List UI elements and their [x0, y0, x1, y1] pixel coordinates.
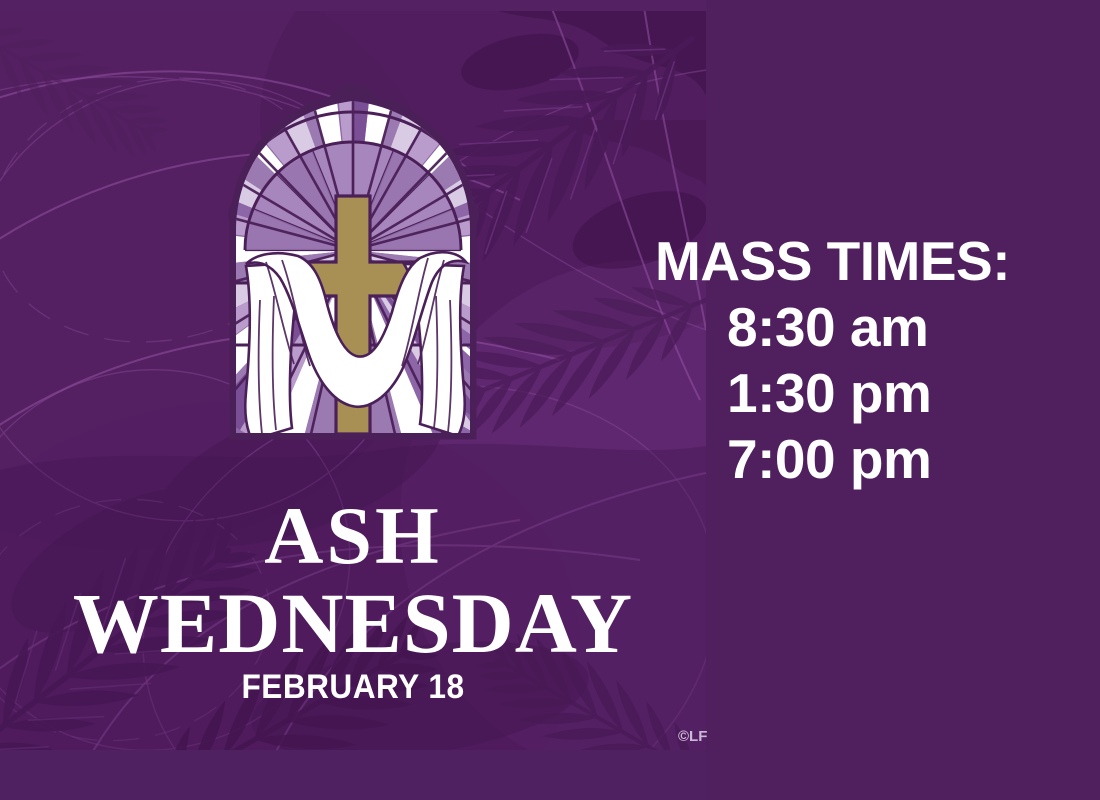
- copyright-mark: ©LF: [678, 728, 707, 745]
- poster-date: FEBRUARY 18: [25, 668, 682, 706]
- poster-title-line-2: WEDNESDAY: [0, 580, 706, 666]
- mass-time-2: 1:30 pm: [655, 360, 1095, 426]
- mass-time-1: 8:30 am: [655, 294, 1095, 360]
- mass-time-3: 7:00 pm: [655, 426, 1095, 492]
- mass-times-block: MASS TIMES: 8:30 am 1:30 pm 7:00 pm: [655, 228, 1095, 492]
- ash-wednesday-slide: MASS TIMES: 8:30 am 1:30 pm 7:00 pm ASH …: [0, 0, 1100, 800]
- mass-times-heading: MASS TIMES:: [655, 228, 1095, 294]
- poster-title-line-1: ASH: [0, 495, 706, 577]
